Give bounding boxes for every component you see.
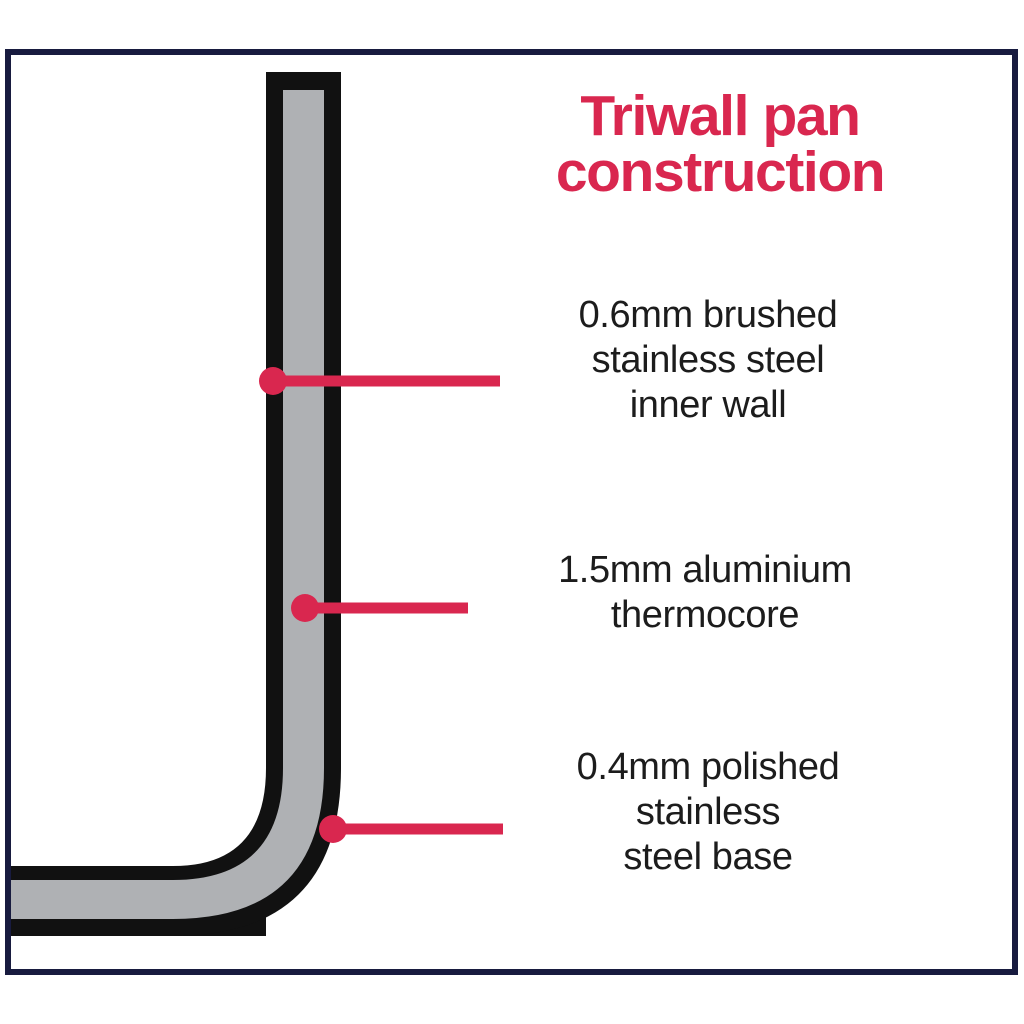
- callout-label-inner-wall-line-2: stainless steel: [476, 338, 940, 383]
- leader-dot-outer-base: [319, 815, 347, 843]
- callout-label-inner-wall-line-3: inner wall: [476, 383, 940, 428]
- leader-dot-inner-wall: [259, 367, 287, 395]
- callout-label-outer-base-line-1: 0.4mm polished: [476, 745, 940, 790]
- figure-title-line-2: construction: [470, 144, 970, 200]
- callout-label-thermocore-line-1: 1.5mm aluminium: [470, 548, 940, 593]
- infographic-page: Triwall pan construction 0.6mm brushed s…: [0, 0, 1024, 1024]
- callout-label-thermocore: 1.5mm aluminium thermocore: [470, 548, 940, 638]
- callout-label-inner-wall-line-1: 0.6mm brushed: [476, 293, 940, 338]
- callout-label-outer-base-line-2: stainless: [476, 790, 940, 835]
- leader-dot-thermocore: [291, 594, 319, 622]
- figure-title-line-1: Triwall pan: [470, 88, 970, 144]
- callout-label-thermocore-line-2: thermocore: [470, 593, 940, 638]
- figure-title: Triwall pan construction: [470, 88, 970, 201]
- callout-label-outer-base-line-3: steel base: [476, 835, 940, 880]
- callout-label-inner-wall: 0.6mm brushed stainless steel inner wall: [476, 293, 940, 427]
- callout-label-outer-base: 0.4mm polished stainless steel base: [476, 745, 940, 879]
